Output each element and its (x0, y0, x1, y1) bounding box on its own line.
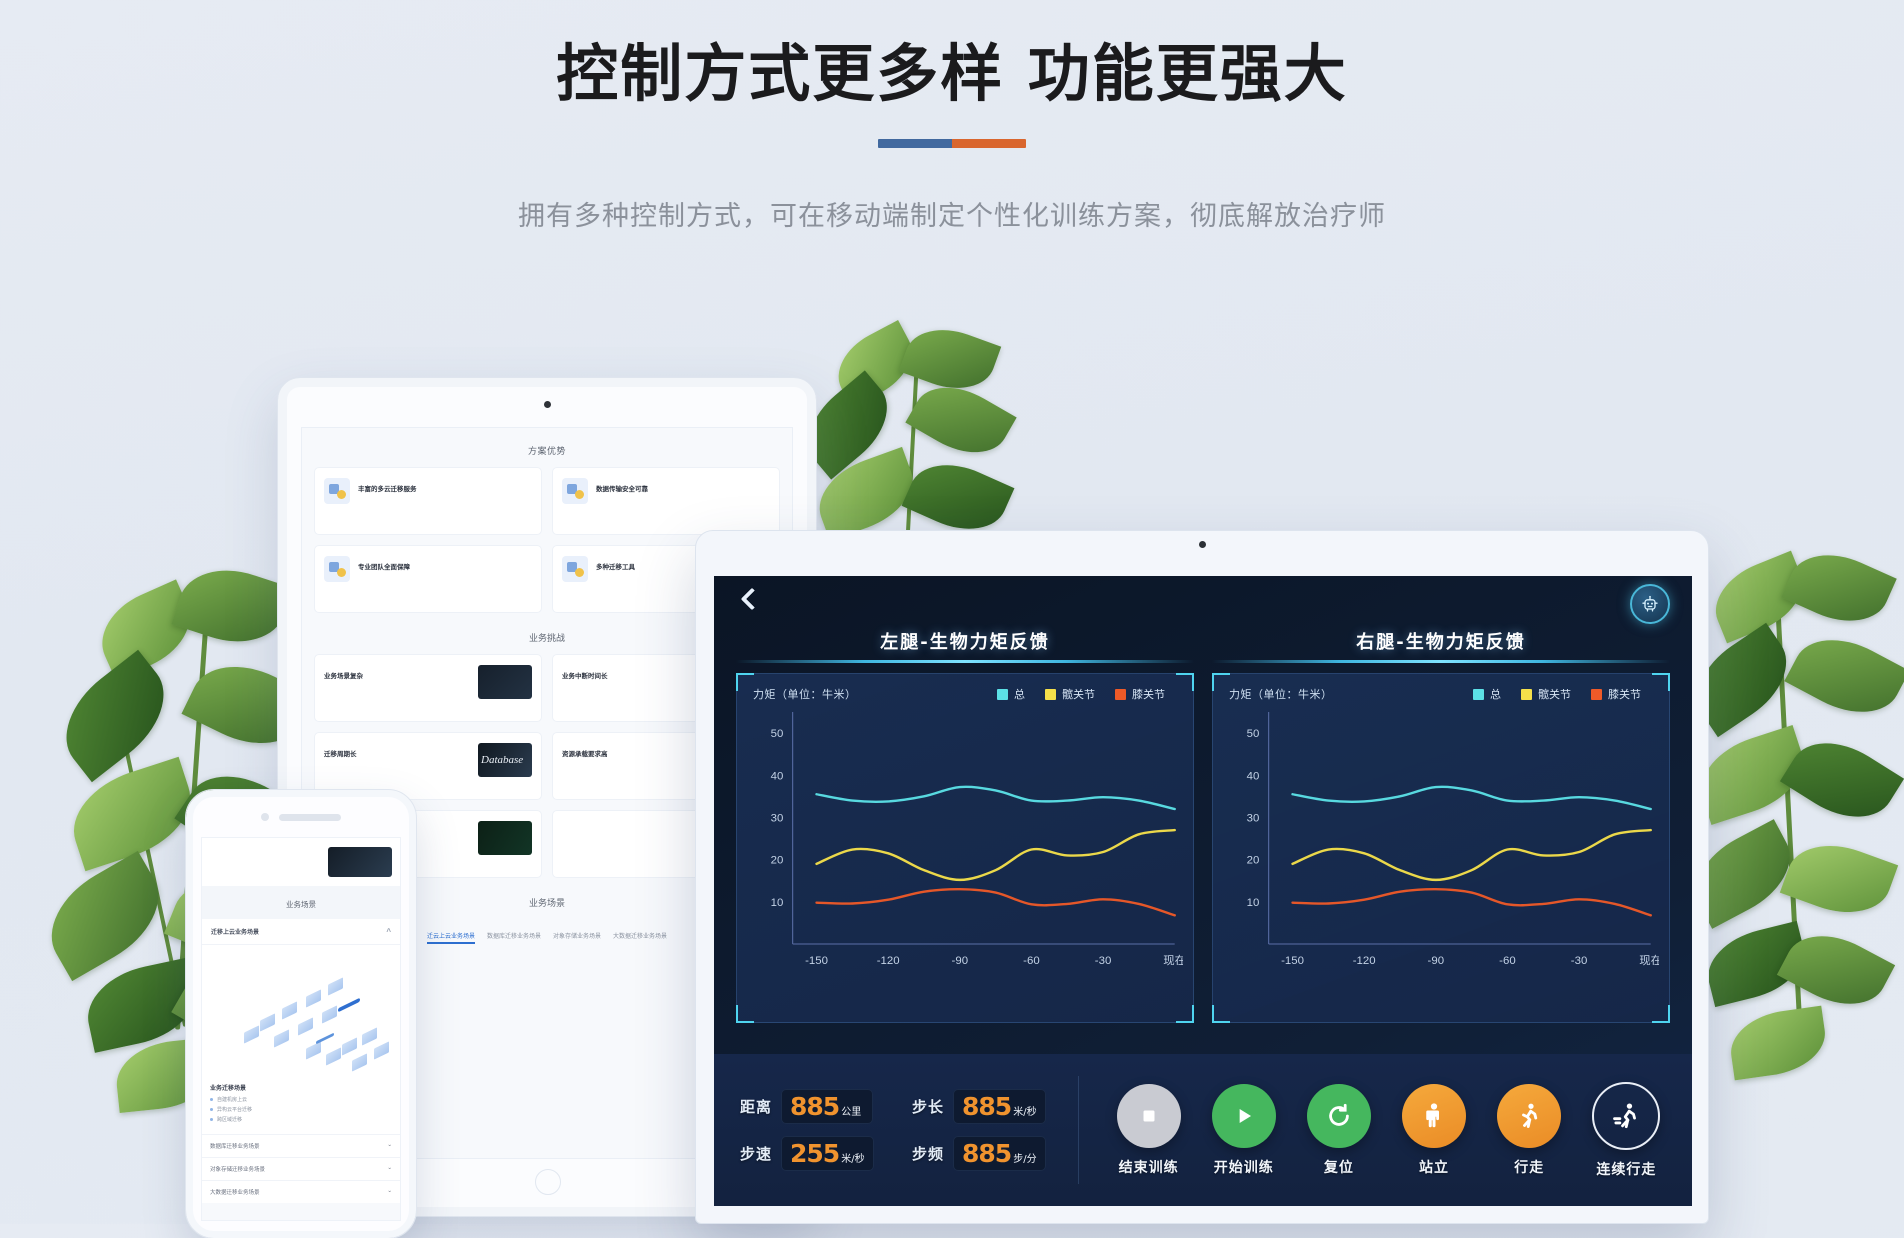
metric-label: 距离 (740, 1096, 772, 1117)
legend-swatch-knee (1115, 689, 1126, 700)
svg-text:30: 30 (1247, 813, 1260, 825)
metric-speed: 步速 255 米/秒 (740, 1136, 898, 1171)
metric-label: 步长 (912, 1096, 944, 1117)
plant-right-decoration (1690, 550, 1904, 1150)
control-label: 开始训练 (1214, 1157, 1274, 1177)
walking-button[interactable]: 行走 (1497, 1084, 1561, 1177)
phone-bullet: 异构云平台迁移 (210, 1106, 392, 1113)
chart-svg-right: 1020304050-150-120-90-60-30现在 (1223, 706, 1659, 978)
tablet-card-title: 数据传输安全可靠 (596, 486, 648, 493)
chart-panel: 力矩（单位：牛米） 总 髋关节 (736, 673, 1194, 1023)
tablet-card-title: 资源承载要求高 (562, 751, 608, 758)
walking-person-icon (1497, 1084, 1561, 1148)
metric-step-length: 步长 885 米/秒 (912, 1089, 1070, 1124)
phone-thumbnail (328, 847, 392, 877)
phone-accordion-label: 数据库迁移业务场景 (210, 1142, 260, 1150)
phone-accordion-label: 对象存储迁移业务场景 (210, 1165, 265, 1173)
chart-right-leg: 右腿-生物力矩反馈 力矩（单位：牛米） 总 (1212, 628, 1670, 1023)
phone-screen: 业务场景 迁移上云业务场景 ^ 业务迁移场景 自建机房上云 异构云平台迁移 跨区… (201, 837, 401, 1221)
metric-cadence: 步频 885 步/分 (912, 1136, 1070, 1171)
phone-speaker (261, 813, 341, 821)
card-thumbnail (478, 665, 532, 699)
chart-unit-label: 力矩（单位：牛米） (753, 686, 857, 702)
tablet-card-title: 迁移周期长 (324, 751, 357, 758)
metric-value: 885 (962, 1094, 1011, 1119)
svg-text:-90: -90 (952, 955, 969, 967)
svg-text:-150: -150 (1281, 955, 1304, 967)
team-icon (324, 556, 350, 582)
tablet-home-button[interactable] (535, 1169, 561, 1195)
legend-item-total[interactable]: 总 (997, 686, 1025, 702)
svg-text:-30: -30 (1095, 955, 1112, 967)
chart-unit-label: 力矩（单位：牛米） (1229, 686, 1333, 702)
tablet-card-title: 业务中断时间长 (562, 673, 608, 680)
page-subtitle: 拥有多种控制方式，可在移动端制定个性化训练方案，彻底解放治疗师 (472, 196, 1432, 238)
tablet-card-title: 业务场景复杂 (324, 673, 363, 680)
chevron-up-icon: ^ (386, 927, 391, 936)
tablet-camera-icon (544, 401, 551, 408)
phone-isometric-diagram (202, 945, 400, 1075)
standing-button[interactable]: 站立 (1402, 1084, 1466, 1177)
chart-legend: 力矩（单位：牛米） 总 髋关节 (747, 686, 1183, 702)
stop-training-button[interactable]: 结束训练 (1117, 1084, 1181, 1177)
tablet-section-title: 方案优势 (302, 428, 792, 467)
legend-item-knee[interactable]: 膝关节 (1115, 686, 1165, 702)
metric-value-box: 885 米/秒 (953, 1089, 1046, 1124)
svg-text:20: 20 (771, 855, 784, 867)
continuous-walk-button[interactable]: 连续行走 (1592, 1082, 1660, 1179)
svg-text:-60: -60 (1499, 955, 1516, 967)
tab-database[interactable]: 数据库迁移业务场景 (487, 931, 541, 944)
control-label: 行走 (1514, 1157, 1544, 1177)
chart-title: 左腿-生物力矩反馈 (736, 628, 1194, 654)
reset-button[interactable]: 复位 (1307, 1084, 1371, 1177)
network-thumbnail (478, 821, 532, 855)
svg-text:现在: 现在 (1163, 954, 1183, 967)
robot-icon[interactable] (1630, 584, 1670, 624)
start-training-button[interactable]: 开始训练 (1212, 1084, 1276, 1177)
svg-text:现在: 现在 (1639, 954, 1659, 967)
secure-cloud-icon (562, 478, 588, 504)
title-divider (878, 139, 1026, 148)
control-label: 站立 (1419, 1157, 1449, 1177)
svg-text:40: 40 (771, 770, 784, 782)
tablet-card-title: 专业团队全面保障 (358, 564, 410, 571)
tablet-card[interactable]: 业务场景复杂 (314, 654, 542, 722)
divider-right-segment (952, 139, 1026, 148)
svg-text:20: 20 (1247, 855, 1260, 867)
phone-accordion[interactable]: 数据库迁移业务场景 ⌄ (202, 1134, 400, 1157)
legend-swatch-knee (1591, 689, 1602, 700)
cloud-migration-icon (324, 478, 350, 504)
chart-panel: 力矩（单位：牛米） 总 髋关节 (1212, 673, 1670, 1023)
svg-text:-30: -30 (1571, 955, 1588, 967)
chart-svg-left: 1020304050-150-120-90-60-30现在 (747, 706, 1183, 978)
legend-swatch-hip (1521, 689, 1532, 700)
phone-accordion-item[interactable]: 迁移上云业务场景 ^ (202, 919, 400, 945)
phone-accordion-label: 大数据迁移业务场景 (210, 1188, 260, 1196)
metric-value-box: 255 米/秒 (781, 1136, 874, 1171)
metric-unit: 公里 (841, 1103, 861, 1118)
metric-value: 885 (790, 1094, 839, 1119)
chevron-down-icon: ⌄ (387, 1142, 392, 1150)
svg-text:-90: -90 (1428, 955, 1445, 967)
metric-unit: 米/秒 (1013, 1103, 1036, 1118)
metric-value-box: 885 步/分 (953, 1136, 1046, 1171)
control-label: 复位 (1324, 1157, 1354, 1177)
chart-title: 右腿-生物力矩反馈 (1212, 628, 1670, 654)
reset-icon (1307, 1084, 1371, 1148)
svg-text:50: 50 (771, 728, 784, 740)
tab-migrate-cloud[interactable]: 迁云上云业务场景 (427, 931, 475, 944)
phone-footer-title: 业务迁移场景 (210, 1083, 392, 1092)
svg-text:-60: -60 (1023, 955, 1040, 967)
continuous-walk-icon (1592, 1082, 1660, 1150)
tab-object-storage[interactable]: 对象存储业务场景 (553, 931, 601, 944)
metric-value: 885 (962, 1141, 1011, 1166)
metric-unit: 步/分 (1013, 1150, 1036, 1165)
chevron-down-icon: ⌄ (387, 1165, 392, 1173)
metric-unit: 米/秒 (841, 1150, 864, 1165)
chart-legend: 力矩（单位：牛米） 总 髋关节 (1223, 686, 1659, 702)
control-buttons: 结束训练 开始训练 复位 (1079, 1082, 1692, 1179)
tab-bigdata[interactable]: 大数据迁移业务场景 (613, 931, 667, 944)
phone-item-label: 迁移上云业务场景 (211, 927, 259, 936)
legend-item-knee[interactable]: 膝关节 (1591, 686, 1641, 702)
legend-swatch-total (997, 689, 1008, 700)
tablet-card[interactable]: 丰富的多云迁移服务 (314, 467, 542, 535)
chart-left-leg: 左腿-生物力矩反馈 力矩（单位：牛米） 总 (736, 628, 1194, 1023)
app-top-bar (714, 576, 1692, 628)
phone-footer-block: 业务迁移场景 自建机房上云 异构云平台迁移 跨区域迁移 (202, 1075, 400, 1134)
standing-person-icon (1402, 1084, 1466, 1148)
phone-section-title: 业务场景 (202, 886, 400, 919)
monitor-camera-icon (1199, 541, 1206, 548)
stop-icon (1117, 1084, 1181, 1148)
svg-text:50: 50 (1247, 728, 1260, 740)
phone-content-row (202, 838, 400, 886)
title-underline (1212, 660, 1670, 663)
monitor-device: 左腿-生物力矩反馈 力矩（单位：牛米） 总 (695, 530, 1709, 1224)
phone-accordion[interactable]: 对象存储迁移业务场景 ⌄ (202, 1157, 400, 1180)
metric-label: 步频 (912, 1143, 944, 1164)
phone-bullet: 自建机房上云 (210, 1096, 392, 1103)
svg-text:10: 10 (1247, 897, 1260, 909)
svg-text:-120: -120 (1353, 955, 1376, 967)
tablet-card-title: 丰富的多云迁移服务 (358, 486, 417, 493)
charts-row: 左腿-生物力矩反馈 力矩（单位：牛米） 总 (714, 628, 1692, 1023)
chart-plot-area: 1020304050-150-120-90-60-30现在 (747, 706, 1183, 978)
svg-text:10: 10 (771, 897, 784, 909)
svg-text:40: 40 (1247, 770, 1260, 782)
database-thumbnail (478, 743, 532, 777)
metric-distance: 距离 885 公里 (740, 1089, 898, 1124)
play-icon (1212, 1084, 1276, 1148)
legend-swatch-total (1473, 689, 1484, 700)
tablet-card[interactable]: 数据传输安全可靠 (552, 467, 780, 535)
rehab-app-screen: 左腿-生物力矩反馈 力矩（单位：牛米） 总 (714, 576, 1692, 1206)
tablet-card-title: 多种迁移工具 (596, 564, 635, 571)
metric-label: 步速 (740, 1143, 772, 1164)
hero-section: 控制方式更多样 功能更强大 拥有多种控制方式，可在移动端制定个性化训练方案，彻底… (0, 0, 1904, 238)
title-underline (736, 660, 1194, 663)
chart-plot-area: 1020304050-150-120-90-60-30现在 (1223, 706, 1659, 978)
metrics-panel: 距离 885 公里 步长 885 米/秒 步速 255 (714, 1089, 1078, 1171)
control-bar: 距离 885 公里 步长 885 米/秒 步速 255 (714, 1054, 1692, 1206)
chevron-down-icon: ⌄ (387, 1188, 392, 1196)
phone-accordion[interactable]: 大数据迁移业务场景 ⌄ (202, 1180, 400, 1203)
legend-swatch-hip (1045, 689, 1056, 700)
legend-item-total[interactable]: 总 (1473, 686, 1501, 702)
svg-text:-150: -150 (805, 955, 828, 967)
legend-item-hip[interactable]: 髋关节 (1521, 686, 1571, 702)
divider-left-segment (878, 139, 952, 148)
svg-text:-120: -120 (877, 955, 900, 967)
control-label: 结束训练 (1119, 1157, 1179, 1177)
legend-item-hip[interactable]: 髋关节 (1045, 686, 1095, 702)
svg-text:30: 30 (771, 813, 784, 825)
chevron-left-icon[interactable] (738, 588, 760, 610)
tablet-card[interactable]: 专业团队全面保障 (314, 545, 542, 613)
tools-icon (562, 556, 588, 582)
phone-bullet: 跨区域迁移 (210, 1116, 392, 1123)
phone-device: 业务场景 迁移上云业务场景 ^ 业务迁移场景 自建机房上云 异构云平台迁移 跨区… (186, 790, 416, 1238)
page-title: 控制方式更多样 功能更强大 (0, 38, 1904, 109)
metric-value-box: 885 公里 (781, 1089, 873, 1124)
control-label: 连续行走 (1596, 1159, 1656, 1179)
metric-value: 255 (790, 1141, 839, 1166)
